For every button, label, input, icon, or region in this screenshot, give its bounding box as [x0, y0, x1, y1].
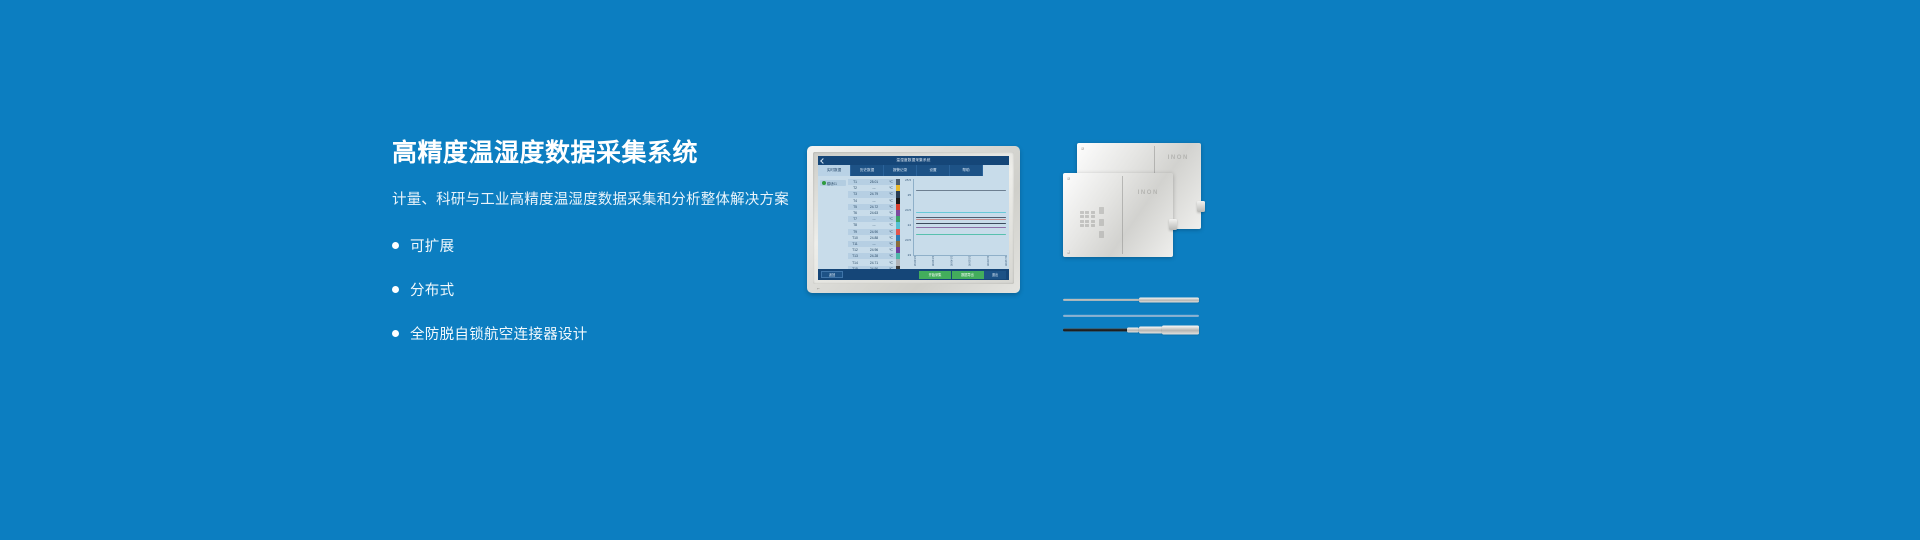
- device-tree-panel: 模块01: [818, 176, 848, 269]
- sensor-probes-group: [1063, 300, 1203, 350]
- channel-unit: ℃: [886, 205, 896, 209]
- panel-pc-device: 温湿度数据采集系统 实时数据 历史数据 报警记录 设置 帮助 模块01 T125…: [807, 146, 1020, 293]
- channel-id: T14: [848, 261, 862, 265]
- product-banner: 高精度温湿度数据采集系统 计量、科研与工业高精度温湿度数据采集和分析整体解决方案…: [0, 0, 1920, 540]
- screw-icon: [1067, 177, 1070, 180]
- chart-trace: [916, 219, 1006, 220]
- app-body: 模块01 T125.01℃T2---℃T324.79℃T4---℃T524.72…: [818, 176, 1009, 269]
- x-tick-label: 11:00:00: [986, 256, 989, 267]
- chart-trace: [916, 234, 1006, 235]
- probe-tip: [1139, 298, 1199, 303]
- back-button[interactable]: 返回: [821, 271, 843, 278]
- channel-value: 24.88: [862, 236, 886, 240]
- channel-value: 24.28: [862, 254, 886, 258]
- aviation-connector: [1139, 327, 1163, 334]
- channel-unit: ℃: [886, 217, 896, 221]
- connector-port: [1169, 219, 1177, 230]
- channel-table: T125.01℃T2---℃T324.79℃T4---℃T524.72℃T624…: [848, 176, 900, 269]
- y-tick-label: 24.5: [901, 208, 911, 212]
- y-tick-label: 24: [901, 223, 911, 227]
- tab-realtime-data[interactable]: 实时数据: [818, 165, 851, 176]
- exit-button[interactable]: 退出: [984, 271, 1006, 279]
- channel-value: ---: [862, 186, 886, 190]
- screw-icon: [1081, 147, 1084, 150]
- channel-unit: ℃: [886, 211, 896, 215]
- channel-id: T5: [848, 205, 862, 209]
- tab-settings[interactable]: 设置: [917, 165, 950, 176]
- y-tick-label: 25: [901, 193, 911, 197]
- chart-trace: [916, 190, 1006, 191]
- chart-trace: [916, 212, 1006, 213]
- device-stand: ⌐: [817, 286, 820, 292]
- y-tick-label: 23.5: [901, 238, 911, 242]
- y-tick-label: 25.5: [901, 178, 911, 182]
- channel-id: T9: [848, 230, 862, 234]
- brand-logo: INON: [1168, 155, 1189, 161]
- probe-cable: [1063, 315, 1199, 317]
- chart-trace: [916, 223, 1006, 224]
- channel-id: T10: [848, 236, 862, 240]
- start-acquisition-button[interactable]: 开始采集: [919, 271, 951, 279]
- feature-item-2: 分布式: [392, 277, 792, 303]
- channel-value: 24.96: [862, 248, 886, 252]
- probe-body: [1162, 326, 1199, 335]
- channel-unit: ℃: [886, 261, 896, 265]
- channel-unit: ℃: [886, 230, 896, 234]
- tab-help[interactable]: 帮助: [950, 165, 983, 176]
- feature-item-1: 可扩展: [392, 233, 792, 259]
- brand-logo: INON: [1138, 190, 1159, 196]
- channel-value: 25.01: [862, 180, 886, 184]
- tab-history-data[interactable]: 历史数据: [851, 165, 884, 176]
- channel-id: T6: [848, 211, 862, 215]
- bullet-dot-icon: [392, 242, 399, 249]
- channel-value: 24.79: [862, 192, 886, 196]
- status-ok-icon: [822, 181, 826, 185]
- feature-label: 全防脱自锁航空连接器设计: [410, 323, 588, 344]
- chart-plot-area: [913, 179, 1007, 256]
- bullet-dot-icon: [392, 286, 399, 293]
- tab-bar: 实时数据 历史数据 报警记录 设置 帮助: [818, 165, 1009, 176]
- chart-x-axis: 10:20:1010:30:0010:40:0010:50:0011:00:00…: [913, 256, 1007, 267]
- channel-id: T13: [848, 254, 862, 258]
- channel-id: T3: [848, 192, 862, 196]
- x-tick-label: 10:50:00: [968, 256, 971, 267]
- device-tree-node-label: 模块01: [827, 181, 837, 186]
- page-subtitle: 计量、科研与工业高精度温湿度数据采集和分析整体解决方案: [392, 190, 792, 210]
- trend-chart: 25.52524.52423.523 10:20:1010:30:0010:40…: [900, 176, 1009, 269]
- channel-id: T11: [848, 242, 862, 246]
- app-footer: 返回 开始采集 数据导出 退出: [818, 269, 1009, 280]
- tab-bar-filler: [983, 165, 1009, 176]
- device-tree-node[interactable]: 模块01: [820, 180, 846, 186]
- x-tick-label: 10:40:00: [949, 256, 952, 267]
- probe-cable: [1063, 299, 1147, 301]
- channel-unit: ℃: [886, 223, 896, 227]
- device-screen: 温湿度数据采集系统 实时数据 历史数据 报警记录 设置 帮助 模块01 T125…: [818, 156, 1009, 280]
- acquisition-module-front: INON: [1063, 173, 1173, 257]
- channel-value: 24.63: [862, 211, 886, 215]
- port-group: [1099, 207, 1104, 238]
- feature-label: 分布式: [410, 279, 454, 300]
- chart-trace: [916, 217, 1006, 218]
- feature-label: 可扩展: [410, 235, 454, 256]
- x-tick-label: 11:10:00: [1004, 256, 1007, 267]
- app-title: 温湿度数据采集系统: [818, 158, 1009, 163]
- enclosure-seam: [1122, 176, 1123, 255]
- feature-list: 可扩展 分布式 全防脱自锁航空连接器设计: [392, 233, 792, 347]
- connector-collar: [1127, 328, 1139, 333]
- x-tick-label: 10:20:10: [913, 256, 916, 267]
- export-data-button[interactable]: 数据导出: [952, 271, 984, 279]
- chart-y-axis: 25.52524.52423.523: [901, 178, 912, 257]
- channel-unit: ℃: [886, 254, 896, 258]
- probe-cable: [1063, 329, 1131, 332]
- channel-unit: ℃: [886, 236, 896, 240]
- app-titlebar: 温湿度数据采集系统: [818, 156, 1009, 165]
- connector-port: [1197, 201, 1205, 212]
- channel-unit: ℃: [886, 248, 896, 252]
- channel-unit: ℃: [886, 186, 896, 190]
- y-tick-label: 23: [901, 253, 911, 257]
- terminal-block-grid: [1080, 211, 1095, 227]
- channel-unit: ℃: [886, 192, 896, 196]
- channel-id: T4: [848, 199, 862, 203]
- bullet-dot-icon: [392, 330, 399, 337]
- channel-value: 24.72: [862, 205, 886, 209]
- channel-value: 24.90: [862, 230, 886, 234]
- tab-alarm-log[interactable]: 报警记录: [884, 165, 917, 176]
- page-title: 高精度温湿度数据采集系统: [392, 140, 792, 168]
- channel-unit: ℃: [886, 199, 896, 203]
- feature-item-3: 全防脱自锁航空连接器设计: [392, 321, 792, 347]
- channel-value: ---: [862, 217, 886, 221]
- channel-unit: ℃: [886, 242, 896, 246]
- channel-value: ---: [862, 223, 886, 227]
- channel-id: T7: [848, 217, 862, 221]
- channel-id: T8: [848, 223, 862, 227]
- hardware-modules-group: INON INON: [1063, 143, 1203, 293]
- channel-unit: ℃: [886, 180, 896, 184]
- channel-id: T2: [848, 186, 862, 190]
- channel-value: ---: [862, 242, 886, 246]
- channel-id: T12: [848, 248, 862, 252]
- screw-icon: [1067, 250, 1070, 253]
- channel-value: 24.71: [862, 261, 886, 265]
- banner-text-block: 高精度温湿度数据采集系统 计量、科研与工业高精度温湿度数据采集和分析整体解决方案…: [392, 140, 792, 365]
- channel-id: T1: [848, 180, 862, 184]
- channel-value: ---: [862, 199, 886, 203]
- chart-trace: [916, 227, 1006, 228]
- x-tick-label: 10:30:00: [931, 256, 934, 267]
